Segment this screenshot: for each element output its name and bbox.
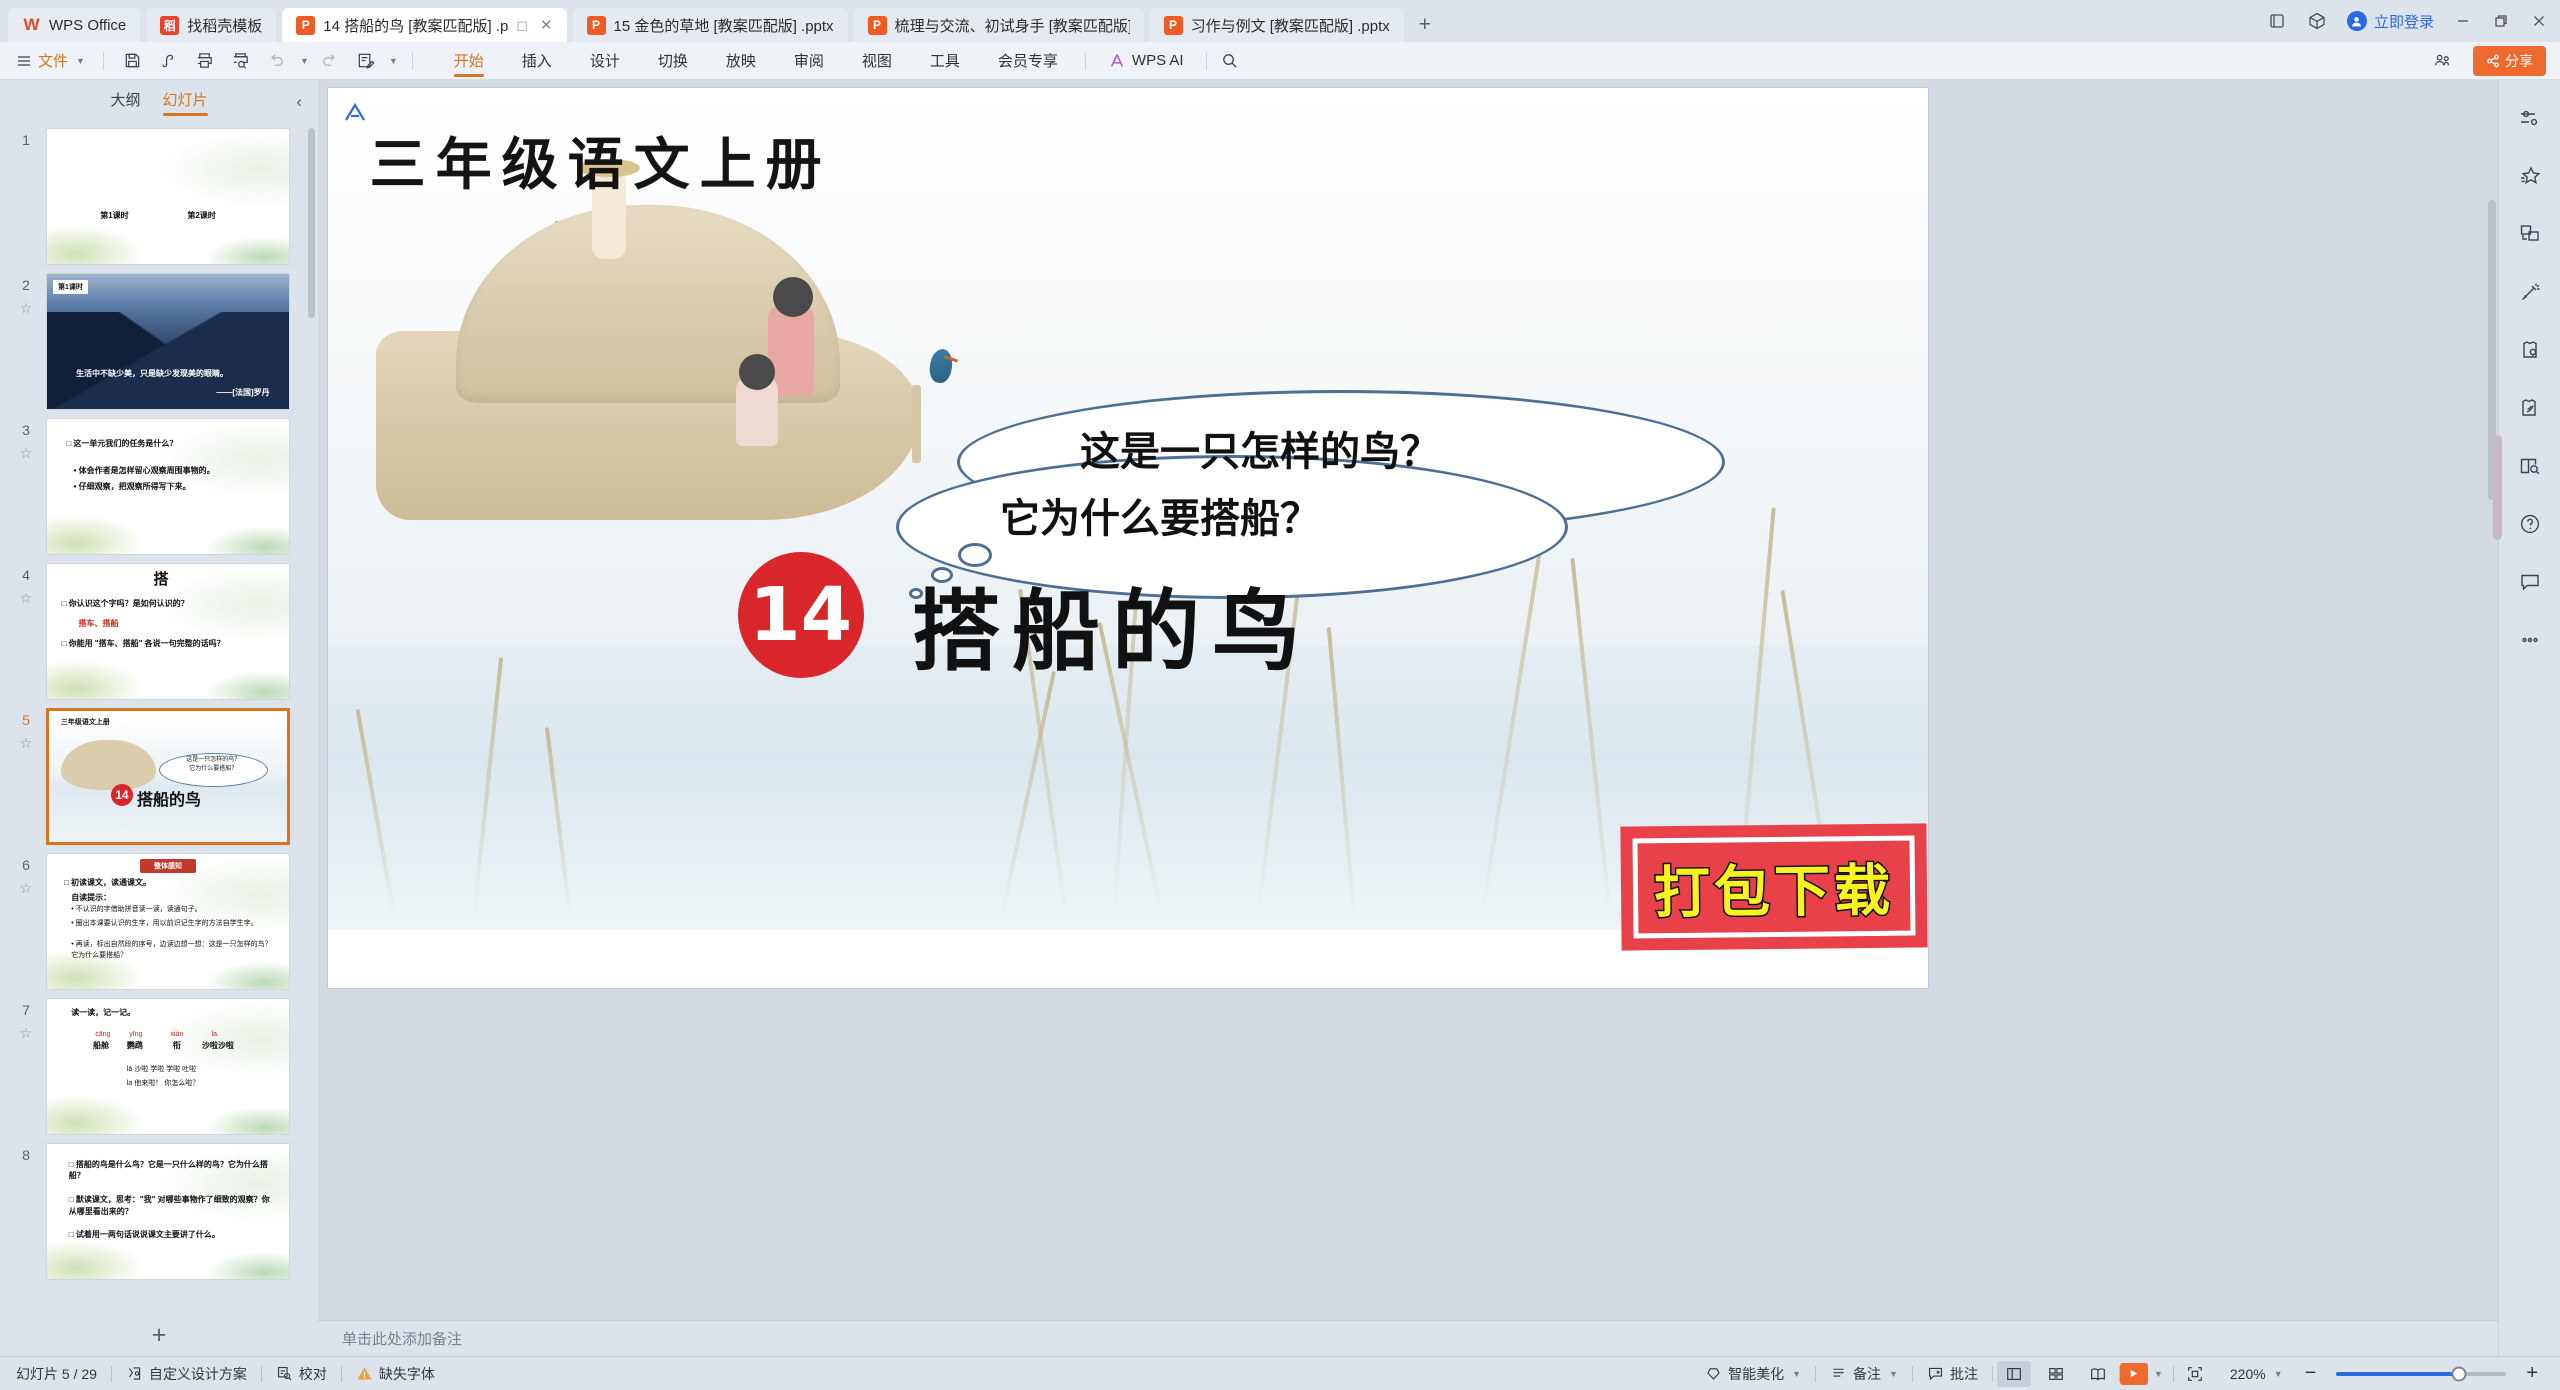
- proofread-label: 校对: [299, 1364, 327, 1384]
- right-tool-rail: [2498, 80, 2560, 1356]
- slide-counter[interactable]: 幻灯片 5 / 29: [16, 1364, 111, 1384]
- collaborate-icon[interactable]: [2427, 47, 2457, 75]
- ribbon-tab-member[interactable]: 会员专享: [979, 42, 1077, 80]
- tab-document-1[interactable]: P 15 金色的草地 [教案匹配版] .pptx: [573, 8, 848, 42]
- powerpoint-file-icon: P: [587, 16, 606, 35]
- thumbnail-text: □ 搭船的鸟是什么鸟？它是一只什么样的鸟？它为什么搭船？: [69, 1159, 272, 1182]
- file-menu-button[interactable]: 文件 ▼: [12, 50, 89, 71]
- zoom-in-button[interactable]: +: [2518, 1362, 2546, 1385]
- edit-mode-icon[interactable]: [351, 47, 381, 75]
- share-button[interactable]: 分享: [2473, 46, 2546, 76]
- boat-post: [912, 385, 921, 463]
- proofread-icon: [276, 1365, 293, 1382]
- slide-number: 6: [22, 857, 30, 873]
- list-item[interactable]: 1 第1课时 第2课时: [0, 124, 318, 269]
- cloud-sync-icon[interactable]: [154, 47, 184, 75]
- replace-shape-icon[interactable]: [2514, 218, 2546, 250]
- tab-label: 15 金色的草地 [教案匹配版] .pptx: [614, 15, 834, 36]
- thumbnail-text: □ 你能用 "搭车、搭船" 各说一句完整的话吗？: [62, 638, 225, 650]
- chevron-down-icon: ▼: [1889, 1369, 1898, 1379]
- thumbnail-text: • 再读，标出自然段的序号，边读边想一想：这是一只怎样的鸟？它为什么要搭船？: [71, 940, 277, 960]
- undo-icon[interactable]: [262, 47, 292, 75]
- notes-icon: [1830, 1365, 1847, 1382]
- thumbnail-text: 鹦鹉: [127, 1040, 143, 1052]
- speech-text-1[interactable]: 这是一只怎样的鸟？: [1080, 419, 1440, 477]
- thumbnail-text: 生活中不缺少美，只是缺少发现美的眼睛。: [76, 368, 270, 379]
- wps-watermark-icon: [342, 100, 368, 126]
- thumbnail-text: • 体会作者是怎样留心观察周围事物的。: [74, 465, 215, 477]
- divider: [1085, 52, 1086, 70]
- chevron-down-icon[interactable]: ▼: [2154, 1369, 2163, 1379]
- ribbon-bar: 文件 ▼ ▼: [0, 42, 2560, 80]
- tab-document-2[interactable]: P 梳理与交流、初试身手 [教案匹配版]: [854, 8, 1144, 42]
- tab-label: 14 搭船的鸟 [教案匹配版] .p: [323, 15, 508, 36]
- thumbnail-text: • 圈出本课要认识的生字，用以前识记生字的方法自学生字。: [71, 919, 277, 929]
- zoom-level-display[interactable]: 220% ▼: [2216, 1366, 2297, 1382]
- slide-main-title[interactable]: 搭船的鸟: [912, 561, 1312, 688]
- comments-label: 批注: [1950, 1364, 1978, 1384]
- redo-icon[interactable]: [315, 47, 345, 75]
- magic-wand-icon[interactable]: [2514, 276, 2546, 308]
- slide-header-title[interactable]: 三年级语文上册: [370, 120, 832, 201]
- cube-icon[interactable]: [2307, 11, 2327, 31]
- workspace: 大纲 幻灯片 ‹ 1 第1课时 第2课时 2 ☆: [0, 80, 2560, 1356]
- view-reading-button[interactable]: [2081, 1361, 2115, 1387]
- watermark-label: 打包下载: [1654, 845, 1895, 929]
- slide-number: 8: [22, 1147, 30, 1163]
- thumbnail-text: la 他来啦！ 你怎么啦？: [127, 1079, 199, 1089]
- powerpoint-file-icon: P: [296, 16, 315, 35]
- divider: [2173, 1366, 2174, 1382]
- thumbnail-text: □ 试着用一两句话说说课文主要讲了什么。: [69, 1229, 272, 1241]
- star-icon[interactable]: ☆: [20, 1026, 33, 1040]
- slide-gutter: 2 ☆: [6, 273, 46, 315]
- tab-document-3[interactable]: P 习作与例文 [教案匹配版] .pptx: [1150, 8, 1404, 42]
- thumbnail-text: □ 默读课文，思考："我" 对哪些事物作了细致的观察？你从哪里看出来的？: [69, 1194, 272, 1217]
- thumbnail-text: 读一读，记一记。: [71, 1007, 135, 1019]
- ribbon-tab-design[interactable]: 设计: [571, 42, 639, 80]
- apply-style-icon[interactable]: [2514, 334, 2546, 366]
- thumbnail-text: 搭船的鸟: [137, 786, 201, 810]
- login-label: 立即登录: [2374, 11, 2434, 32]
- templates-icon: 稻: [160, 16, 179, 35]
- missing-font-warning[interactable]: 缺失字体: [342, 1364, 449, 1384]
- chevron-down-icon: ▼: [2274, 1369, 2283, 1379]
- star-icon[interactable]: ☆: [20, 301, 33, 315]
- list-item[interactable]: 4 ☆ 搭 □ 你认识这个字吗？是如何认识的？ 搭车、搭船 □ 你能用 "搭车、…: [0, 559, 318, 704]
- divider: [103, 52, 104, 70]
- design-scheme-icon: [126, 1365, 143, 1382]
- new-tab-button[interactable]: +: [1410, 10, 1440, 40]
- book-search-icon[interactable]: [2514, 450, 2546, 482]
- wps-logo-icon: W: [22, 16, 41, 35]
- slide-number: 2: [22, 277, 30, 293]
- slide-thumbnail-8[interactable]: □ 搭船的鸟是什么鸟？它是一只什么样的鸟？它为什么搭船？ □ 默读课文，思考："…: [46, 1143, 290, 1280]
- thumbnail-text: lā 沙啦 学啦 学啦 吐啦: [127, 1065, 196, 1075]
- star-icon[interactable]: ☆: [20, 736, 33, 750]
- normal-view-icon: [2005, 1365, 2023, 1383]
- star-icon[interactable]: ☆: [20, 591, 33, 605]
- zoom-slider-knob[interactable]: [2451, 1366, 2466, 1381]
- reading-view-icon: [2089, 1365, 2107, 1383]
- warning-icon: [356, 1365, 373, 1382]
- chevron-down-icon[interactable]: ▼: [389, 56, 398, 66]
- slide-number: 7: [22, 1002, 30, 1018]
- slide-canvas[interactable]: 三年级语文上册 这是一只怎样的鸟？ 它为什么要搭船？ 14 搭船的鸟 打包下载: [328, 88, 1928, 988]
- ribbon-tab-transition[interactable]: 切换: [639, 42, 707, 80]
- panel-scrollbar[interactable]: [308, 128, 315, 318]
- quick-access-toolbar: 文件 ▼ ▼: [0, 47, 421, 75]
- share-label: 分享: [2505, 51, 2533, 71]
- fit-to-window-button[interactable]: [2178, 1361, 2212, 1387]
- status-bar: 幻灯片 5 / 29 自定义设计方案 校对 缺失字体 智能美化 ▼: [0, 1356, 2560, 1390]
- slide-thumbnail-2[interactable]: 第1课时 生活中不缺少美，只是缺少发现美的眼睛。 ——[法国]罗丹: [46, 273, 290, 410]
- multi-window-icon[interactable]: [2267, 11, 2287, 31]
- print-preview-icon[interactable]: [226, 47, 256, 75]
- ribbon-tab-review[interactable]: 审阅: [775, 42, 843, 80]
- zoom-slider[interactable]: [2336, 1372, 2506, 1376]
- comments-button[interactable]: 批注: [1913, 1364, 1992, 1384]
- tab-label: 梳理与交流、初试身手 [教案匹配版]: [895, 15, 1130, 36]
- thumbnail-text: □ 你认识这个字吗？是如何认识的？: [62, 598, 189, 610]
- thumbnail-text: 衔: [173, 1040, 181, 1052]
- comment-icon: [1927, 1365, 1944, 1382]
- slide-thumbnail-3[interactable]: □ 这一单元我们的任务是什么？ • 体会作者是怎样留心观察周围事物的。 • 仔细…: [46, 418, 290, 555]
- window-controls: 立即登录: [2267, 0, 2548, 42]
- star-icon[interactable]: ☆: [20, 881, 33, 895]
- editor-area: 三年级语文上册 这是一只怎样的鸟？ 它为什么要搭船？ 14 搭船的鸟 打包下载 …: [318, 80, 2498, 1356]
- chevron-down-icon[interactable]: ▼: [300, 56, 309, 66]
- chevron-down-icon: ▼: [76, 56, 85, 66]
- feather-effects-icon[interactable]: [2514, 392, 2546, 424]
- thumbnail-text: □ 初读课文，读通课文。: [64, 877, 151, 889]
- slide-thumbnail-6[interactable]: 整体感知 □ 初读课文，读通课文。 自读提示： • 不认识的字借助拼音读一读，读…: [46, 853, 290, 990]
- ribbon-tab-tools[interactable]: 工具: [911, 42, 979, 80]
- zoom-out-button[interactable]: −: [2297, 1362, 2325, 1385]
- thumbnail-text: □ 这一单元我们的任务是什么？: [66, 438, 177, 450]
- missing-font-label: 缺失字体: [379, 1364, 435, 1384]
- ribbon-tab-view[interactable]: 视图: [843, 42, 911, 80]
- tab-label: 找稻壳模板: [187, 15, 262, 36]
- slide-gutter: 5 ☆: [6, 708, 46, 750]
- minimize-icon[interactable]: [2454, 12, 2472, 30]
- thumbnail-text: 搭: [153, 569, 168, 591]
- slide-thumbnail-7[interactable]: 读一读，记一记。 cāng 船舱 yīng 鹦鹉 xián 衔 la 沙啦沙啦 …: [46, 998, 290, 1135]
- monitor-icon[interactable]: ◻: [516, 17, 528, 34]
- favorite-star-icon[interactable]: [2514, 160, 2546, 192]
- thumbnail-text: 这是一只怎样的鸟？ 它为什么要搭船？: [163, 756, 263, 775]
- slide-counter-label: 幻灯片 5 / 29: [16, 1364, 97, 1384]
- notes-toggle-button[interactable]: 备注 ▼: [1816, 1364, 1912, 1384]
- thumbnail-text: • 不认识的字借助拼音读一读，读通句子。: [71, 905, 277, 915]
- panel-header: 大纲 幻灯片 ‹: [0, 80, 318, 124]
- save-icon[interactable]: [118, 47, 148, 75]
- thumbnail-text: 沙啦沙啦: [202, 1040, 234, 1052]
- list-item[interactable]: 3 ☆ □ 这一单元我们的任务是什么？ • 体会作者是怎样留心观察周围事物的。 …: [0, 414, 318, 559]
- list-item[interactable]: 7 ☆ 读一读，记一记。 cāng 船舱 yīng 鹦鹉 xián 衔 la 沙…: [0, 994, 318, 1139]
- ribbon-tab-start[interactable]: 开始: [435, 42, 503, 80]
- thumbnail-banner: 整体感知: [140, 859, 196, 873]
- speech-text-2[interactable]: 它为什么要搭船？: [1000, 486, 1320, 544]
- thumbnail-badge: 第1课时: [53, 280, 88, 294]
- beautify-icon: [1705, 1365, 1722, 1382]
- panel-tab-outline[interactable]: 大纲: [110, 89, 140, 116]
- close-icon[interactable]: ✕: [540, 16, 553, 34]
- login-button[interactable]: 立即登录: [2347, 11, 2434, 32]
- tab-wps-office-home[interactable]: W WPS Office: [8, 8, 140, 42]
- view-slide-sorter-button[interactable]: [2039, 1361, 2073, 1387]
- ribbon-tab-slideshow[interactable]: 放映: [707, 42, 775, 80]
- play-icon: [2128, 1368, 2139, 1379]
- smart-beautify-button[interactable]: 智能美化 ▼: [1691, 1364, 1815, 1384]
- thumbnail-text: 船舱: [93, 1040, 109, 1052]
- thumbnail-text: ——[法国]罗丹: [216, 387, 269, 398]
- tab-label: WPS Office: [49, 17, 126, 34]
- tab-label: 习作与例文 [教案匹配版] .pptx: [1191, 15, 1390, 36]
- thumbnail-art: [47, 129, 289, 264]
- list-item[interactable]: 2 ☆ 第1课时 生活中不缺少美，只是缺少发现美的眼睛。 ——[法国]罗丹: [0, 269, 318, 414]
- design-scheme-button[interactable]: 自定义设计方案: [112, 1364, 261, 1384]
- star-icon[interactable]: ☆: [20, 446, 33, 460]
- divider: [412, 52, 413, 70]
- notes-pane[interactable]: 单击此处添加备注: [318, 1320, 2498, 1356]
- collapse-panel-icon[interactable]: ‹: [296, 92, 302, 112]
- help-icon[interactable]: [2514, 508, 2546, 540]
- thumbnail-text: 自读提示：: [71, 892, 111, 904]
- slide-thumbnail-4[interactable]: 搭 □ 你认识这个字吗？是如何认识的？ 搭车、搭船 □ 你能用 "搭车、搭船" …: [46, 563, 290, 700]
- divider: [1206, 52, 1207, 70]
- slide-gutter: 7 ☆: [6, 998, 46, 1040]
- design-scheme-label: 自定义设计方案: [149, 1364, 247, 1384]
- slide-navigator-panel: 大纲 幻灯片 ‹ 1 第1课时 第2课时 2 ☆: [0, 80, 318, 1356]
- powerpoint-file-icon: P: [1164, 16, 1183, 35]
- slide-thumbnail-1[interactable]: 第1课时 第2课时: [46, 128, 290, 265]
- maximize-icon[interactable]: [2492, 12, 2510, 30]
- thumbnail-text: 第2课时: [187, 210, 215, 222]
- slide-gutter: 8: [6, 1143, 46, 1163]
- powerpoint-file-icon: P: [868, 16, 887, 35]
- tab-document-0[interactable]: P 14 搭船的鸟 [教案匹配版] .p ◻ ✕: [282, 8, 566, 42]
- notes-placeholder: 单击此处添加备注: [342, 1328, 462, 1349]
- slide-thumbnail-list[interactable]: 1 第1课时 第2课时 2 ☆ 第1课时 生活中不缺少美，只是缺少发现美的眼睛。: [0, 124, 318, 1314]
- slide-number: 1: [22, 132, 30, 148]
- slide-number: 3: [22, 422, 30, 438]
- more-options-icon[interactable]: [2514, 624, 2546, 656]
- divider: [1992, 1366, 1993, 1382]
- slide-sorter-icon: [2047, 1365, 2065, 1383]
- child-head-1: [773, 277, 813, 317]
- panel-tab-slides[interactable]: 幻灯片: [163, 89, 208, 116]
- thumbnail-text: 搭车、搭船: [78, 618, 118, 630]
- ribbon-menu-tabs: 开始 插入 设计 切换 放映 审阅 视图 工具 会员专享 WPS AI: [435, 42, 1245, 80]
- start-slideshow-button[interactable]: [2120, 1363, 2148, 1385]
- canvas-wrapper[interactable]: 三年级语文上册 这是一只怎样的鸟？ 它为什么要搭船？ 14 搭船的鸟 打包下载: [318, 80, 2498, 1320]
- rail-drag-handle[interactable]: [2493, 435, 2502, 540]
- lesson-number-badge[interactable]: 14: [738, 552, 864, 678]
- view-normal-button[interactable]: [1997, 1361, 2031, 1387]
- thumbnail-text: 三年级语文上册: [61, 718, 110, 728]
- slide-number: 4: [22, 567, 30, 583]
- wps-ai-button[interactable]: WPS AI: [1094, 52, 1198, 70]
- title-bar: W WPS Office 稻 找稻壳模板 P 14 搭船的鸟 [教案匹配版] .…: [0, 0, 2560, 42]
- wps-ai-label: WPS AI: [1132, 52, 1184, 69]
- avatar: [2347, 11, 2367, 31]
- notes-label: 备注: [1853, 1364, 1881, 1384]
- list-item[interactable]: 6 ☆ 整体感知 □ 初读课文，读通课文。 自读提示： • 不认识的字借助拼音读…: [0, 849, 318, 994]
- file-menu-label: 文件: [38, 50, 68, 71]
- slide-thumbnail-5[interactable]: 三年级语文上册 这是一只怎样的鸟？ 它为什么要搭船？ 14 搭船的鸟: [46, 708, 290, 845]
- thumbnail-text: • 仔细观察，把观察所得写下来。: [74, 481, 191, 493]
- close-window-icon[interactable]: [2530, 12, 2548, 30]
- proofread-button[interactable]: 校对: [262, 1364, 341, 1384]
- thumbnail-text: 第1课时: [100, 210, 128, 222]
- search-icon[interactable]: [1215, 47, 1245, 75]
- beautify-label: 智能美化: [1728, 1364, 1784, 1384]
- list-item[interactable]: 5 ☆ 三年级语文上册 这是一只怎样的鸟？ 它为什么要搭船？ 14 搭船的鸟: [0, 704, 318, 849]
- slide-number: 5: [22, 712, 30, 728]
- chevron-down-icon: ▼: [1792, 1369, 1801, 1379]
- slide-gutter: 6 ☆: [6, 853, 46, 895]
- list-item[interactable]: 8 □ 搭船的鸟是什么鸟？它是一只什么样的鸟？它为什么搭船？ □ 默读课文，思考…: [0, 1139, 318, 1284]
- slide-gutter: 1: [6, 128, 46, 148]
- status-bar-right: 智能美化 ▼ 备注 ▼ 批注: [1691, 1361, 2546, 1387]
- tab-find-templates[interactable]: 稻 找稻壳模板: [146, 8, 276, 42]
- zoom-slider-fill: [2336, 1372, 2458, 1376]
- add-slide-button[interactable]: +: [0, 1314, 318, 1356]
- fit-window-icon: [2186, 1365, 2204, 1383]
- slide-gutter: 4 ☆: [6, 563, 46, 605]
- ribbon-right-controls: 分享: [2427, 46, 2546, 76]
- feedback-chat-icon[interactable]: [2514, 566, 2546, 598]
- settings-sliders-icon[interactable]: [2514, 102, 2546, 134]
- child-head-2: [739, 354, 775, 390]
- print-icon[interactable]: [190, 47, 220, 75]
- download-watermark-stamp[interactable]: 打包下载: [1623, 826, 1924, 947]
- slide-gutter: 3 ☆: [6, 418, 46, 460]
- ribbon-tab-insert[interactable]: 插入: [503, 42, 571, 80]
- zoom-level-label: 220%: [2230, 1366, 2266, 1382]
